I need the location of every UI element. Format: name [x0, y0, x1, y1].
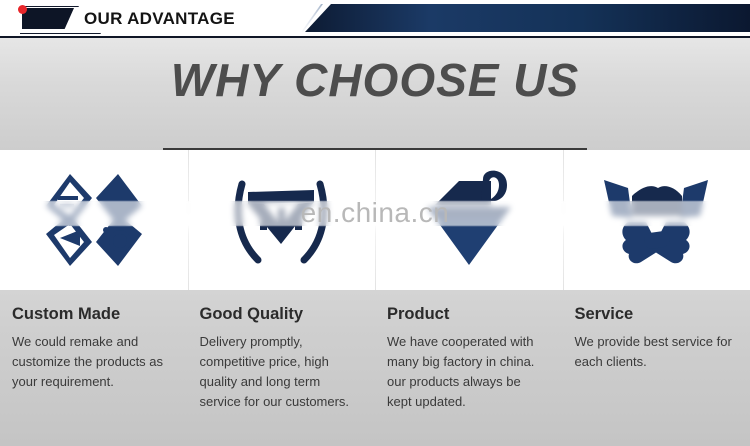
page-title: WHY CHOOSE US: [0, 54, 750, 106]
banner-title: OUR ADVANTAGE: [84, 6, 235, 32]
feature-product: Product We have cooperated with many big…: [375, 290, 563, 446]
watermark-text: en.china.cn: [0, 196, 750, 230]
feature-service: Service We provide best service for each…: [563, 290, 750, 446]
feature-title: Custom Made: [12, 304, 174, 324]
feature-title: Good Quality: [200, 304, 362, 324]
heading-band: WHY CHOOSE US Q U A L I T Y I S O U R C …: [0, 38, 750, 150]
banner-blue-bar: [305, 4, 750, 32]
feature-custom-made: Custom Made We could remake and customiz…: [0, 290, 188, 446]
feature-title: Service: [575, 304, 737, 324]
why-choose-us-banner: OUR ADVANTAGE WHY CHOOSE US Q U A L I T …: [0, 0, 750, 446]
feature-body: We provide best service for each clients…: [575, 332, 737, 372]
top-banner: OUR ADVANTAGE: [0, 0, 750, 38]
feature-body: We have cooperated with many big factory…: [387, 332, 549, 412]
red-dot-icon: [18, 5, 27, 14]
feature-text-band: Custom Made We could remake and customiz…: [0, 290, 750, 446]
feature-body: We could remake and customize the produc…: [12, 332, 174, 392]
feature-title: Product: [387, 304, 549, 324]
feature-good-quality: Good Quality Delivery promptly, competit…: [188, 290, 376, 446]
feature-body: Delivery promptly, competitive price, hi…: [200, 332, 362, 412]
